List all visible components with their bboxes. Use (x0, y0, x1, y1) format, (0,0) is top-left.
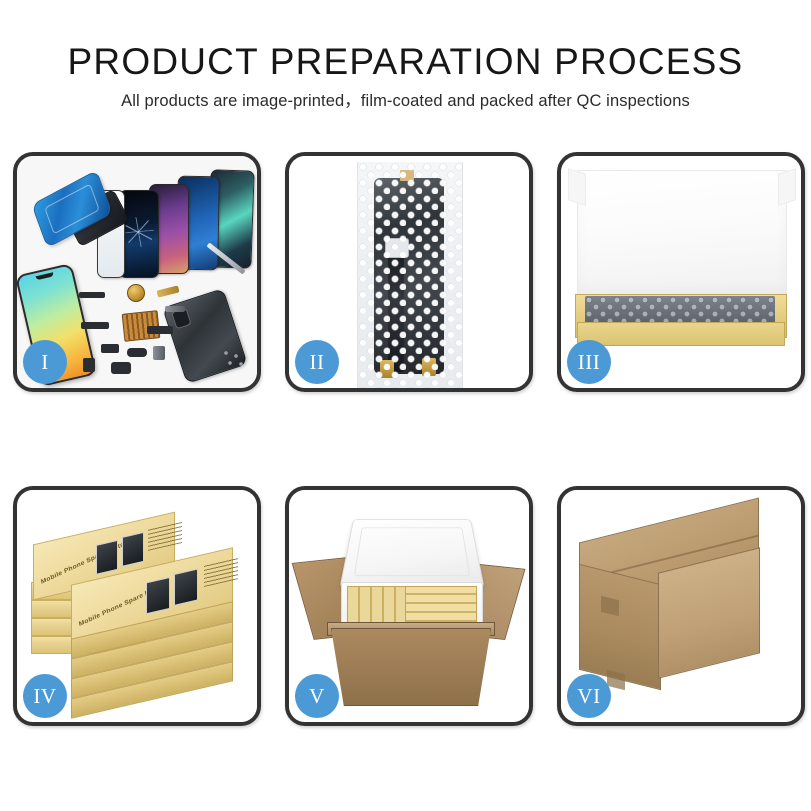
part-chip-a (101, 344, 119, 353)
step-badge-6: VI (567, 674, 611, 718)
part-strip (79, 292, 105, 298)
box-art-screen-c (146, 577, 170, 615)
phone-screen-cracked (119, 190, 159, 278)
box-lid-white (577, 170, 787, 298)
speaker-component-icon (127, 284, 145, 302)
box-art-screen-b (122, 532, 144, 567)
process-step-panel-6[interactable]: VI (557, 486, 805, 726)
box-art-speclines-a (148, 521, 182, 551)
foam-cooler-lid (339, 519, 484, 588)
page-header: PRODUCT PREPARATION PROCESS All products… (0, 0, 811, 112)
part-sim-tray (83, 358, 95, 372)
step-badge-1: I (23, 340, 67, 384)
carton-body (331, 628, 491, 706)
box-art-screen-d (174, 568, 198, 606)
step-badge-2: II (295, 340, 339, 384)
bubble-texture (358, 162, 462, 388)
process-step-panel-1[interactable]: I (13, 152, 261, 392)
box-art-screen-a (96, 540, 118, 575)
part-flex-a (165, 306, 185, 312)
part-chip-b (127, 348, 147, 357)
box-art-speclines-b (204, 557, 238, 587)
screws-group (223, 350, 245, 368)
part-camera-module (111, 362, 131, 374)
step-badge-3: III (567, 340, 611, 384)
process-step-panel-5[interactable]: V (285, 486, 533, 726)
part-battery-tab (153, 346, 165, 360)
process-step-panel-4[interactable]: Mobile Phone Spare Parts Mobile Phone Sp… (13, 486, 261, 726)
bubble-wrap-pouch (357, 162, 463, 388)
step-badge-5: V (295, 674, 339, 718)
process-step-panel-3[interactable]: III (557, 152, 805, 392)
part-flex-b (81, 322, 109, 329)
process-step-panel-2[interactable]: II (285, 152, 533, 392)
process-step-grid: I II III (13, 152, 798, 726)
step-badge-4: IV (23, 674, 67, 718)
page-title: PRODUCT PREPARATION PROCESS (0, 40, 811, 84)
bubble-wrap-contents (585, 296, 775, 324)
page-subtitle: All products are image-printed，film-coat… (0, 90, 811, 112)
part-flex-c (147, 326, 173, 334)
shipping-box-left-face (579, 564, 661, 690)
box-front-gold (577, 322, 785, 346)
